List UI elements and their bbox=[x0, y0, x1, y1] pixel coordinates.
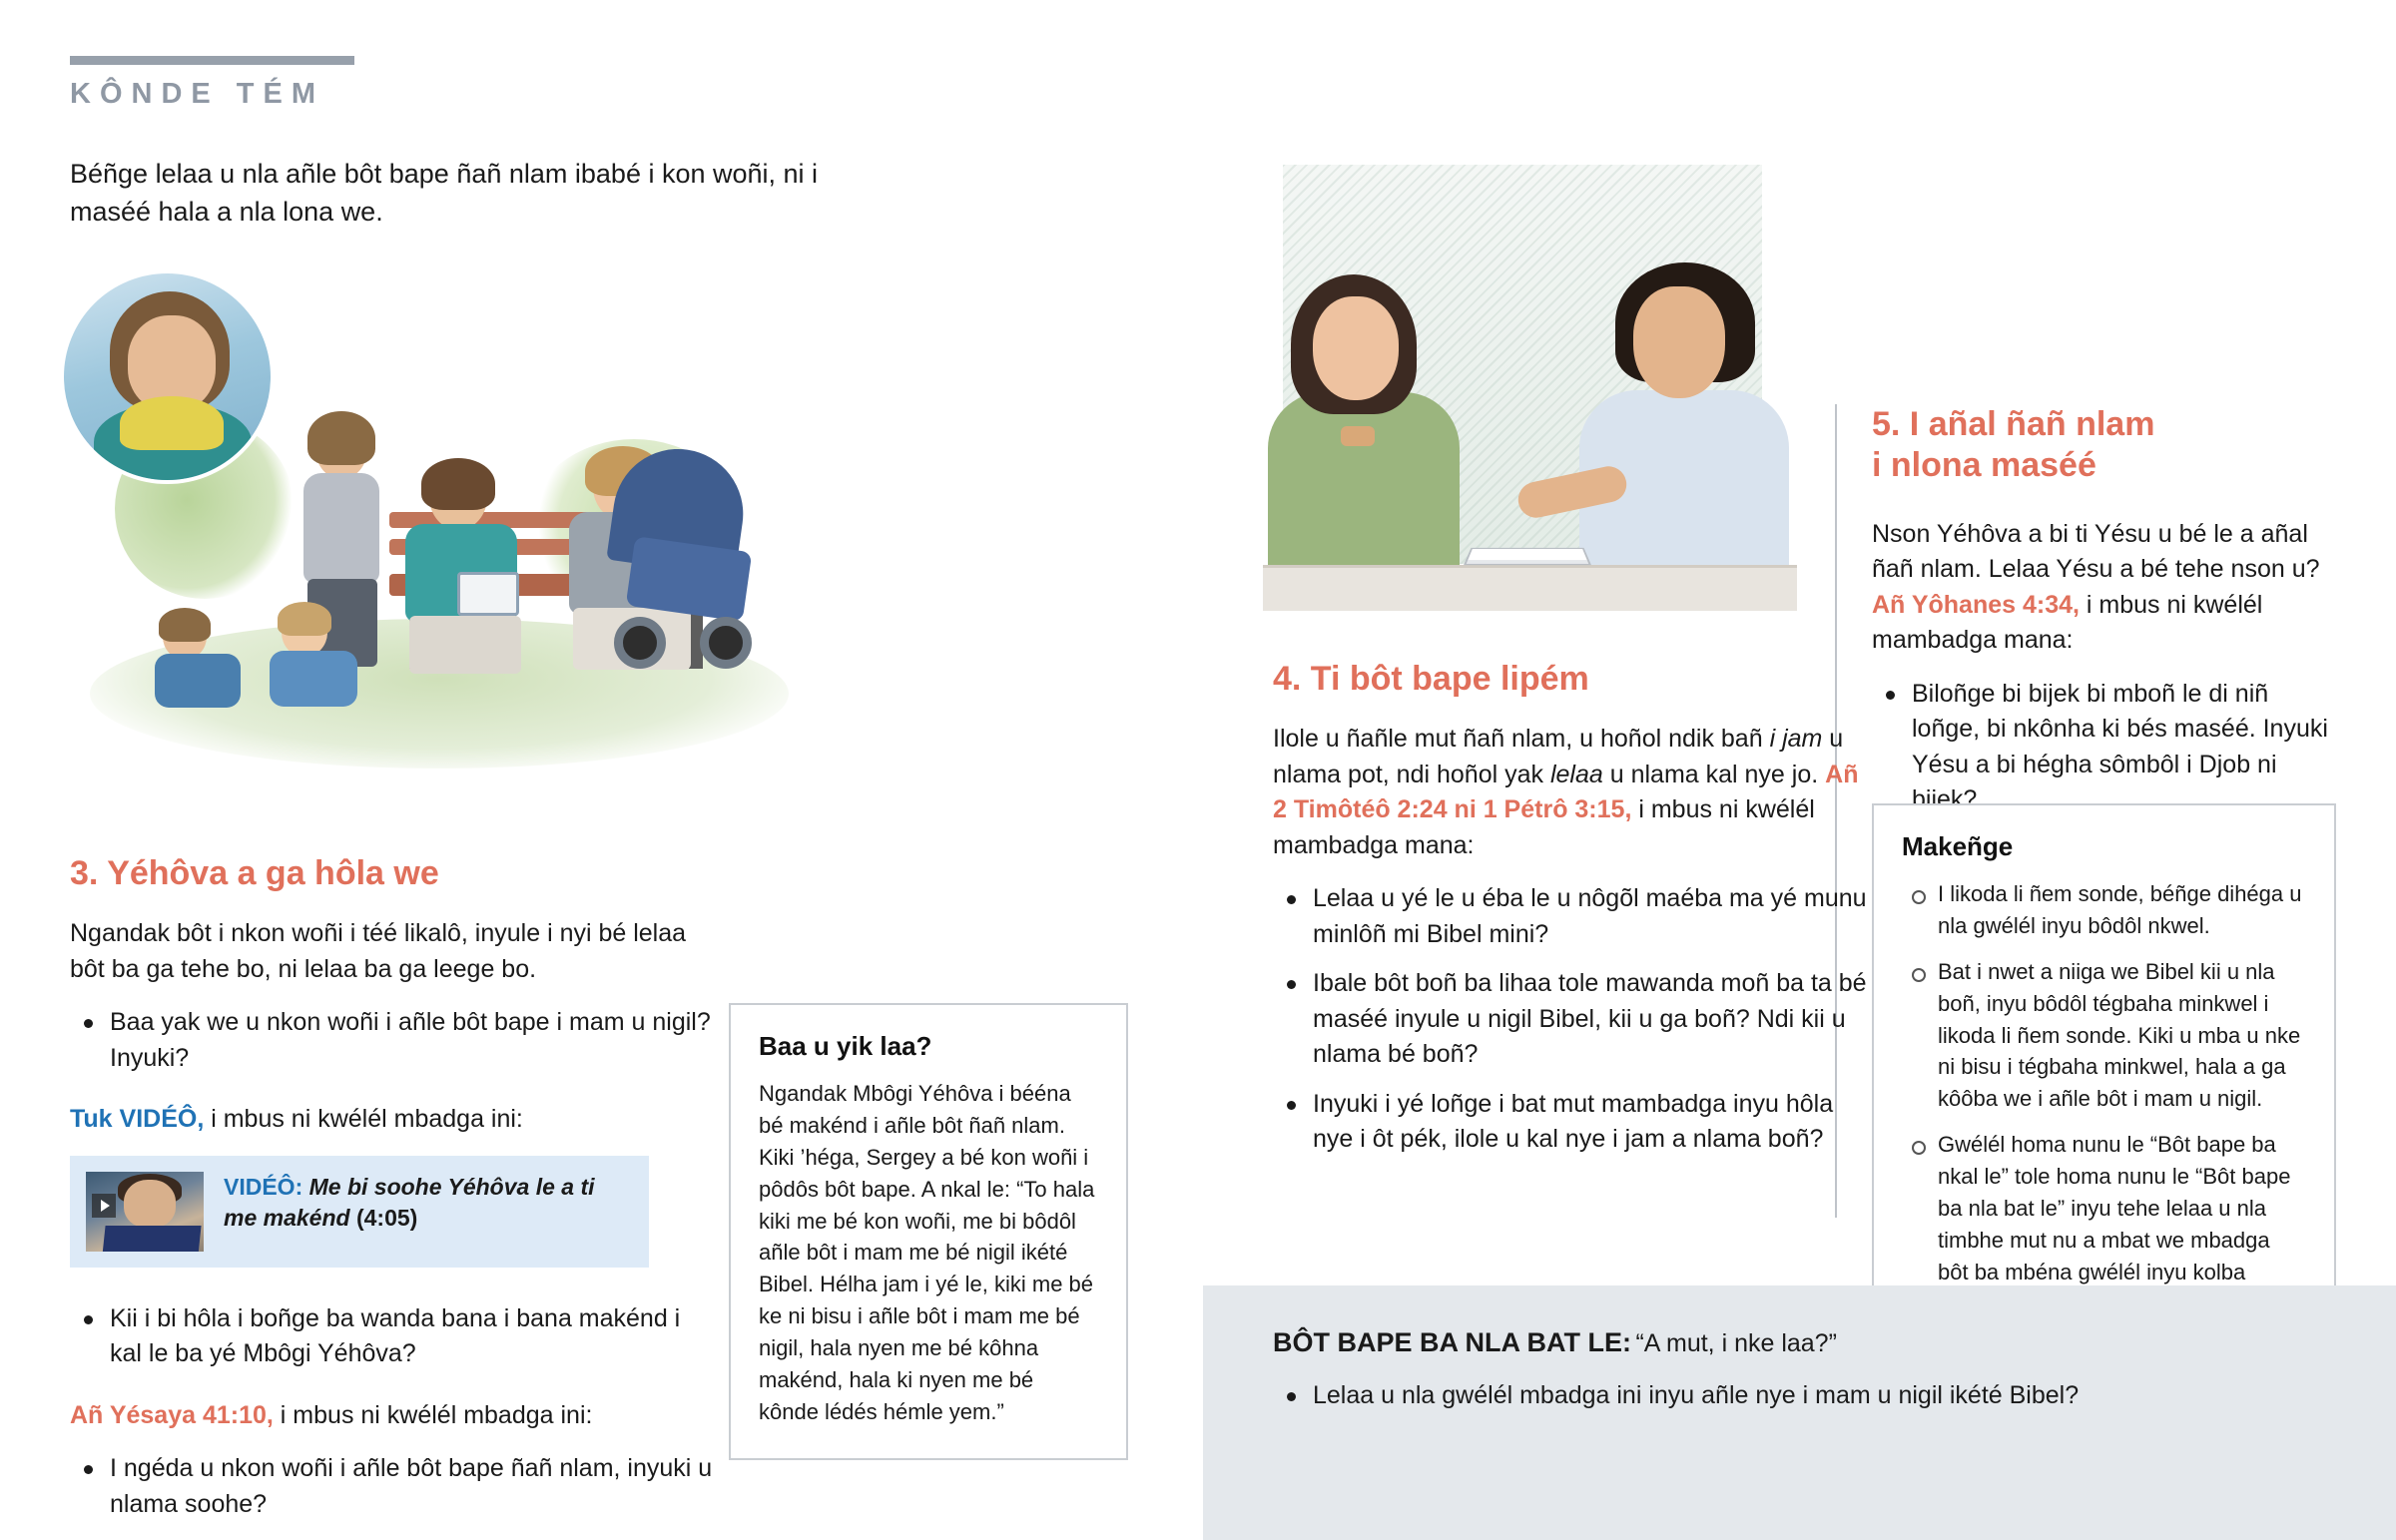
list-item: I likoda li ñem sonde, béñge dihéga u nl… bbox=[1902, 878, 2306, 942]
section-3: 3. Yéhôva a ga hôla we Ngandak bôt i nko… bbox=[70, 853, 719, 1540]
play-icon[interactable] bbox=[92, 1194, 116, 1218]
stroller-wheel-front bbox=[614, 617, 666, 669]
section-5-heading-line2: i nlona maséé bbox=[1872, 446, 2096, 484]
section-4-bullets: Lelaa u yé le u éba le u nôgõl maéba ma … bbox=[1273, 881, 1872, 1158]
video-label: VIDÉÔ: bbox=[224, 1174, 302, 1200]
inset-portrait-circle bbox=[60, 269, 275, 484]
tips-box: Makeñge I likoda li ñem sonde, béñge dih… bbox=[1872, 803, 2336, 1366]
list-item: Biloñge bi bijek bi mboñ le di niñ loñge… bbox=[1872, 677, 2336, 818]
section-4-body: Ilole u ñañle mut ñañ nlam, u hoñol ndik… bbox=[1273, 722, 1872, 863]
woman-face bbox=[1313, 296, 1399, 400]
figure-torso bbox=[303, 473, 379, 583]
scripture-cue-strong[interactable]: Añ Yésaya 41:10, bbox=[70, 1401, 274, 1429]
intro-paragraph: Béñge lelaa u nla añle bôt bape ñañ nlam… bbox=[70, 155, 869, 232]
did-you-know-body: Ngandak Mbôgi Yéhôva i bééna bé makénd i… bbox=[759, 1078, 1098, 1428]
section-4-body-part1: Ilole u ñañle mut ñañ nlam, u hoñol ndik… bbox=[1273, 725, 1770, 753]
figure-child-right bbox=[260, 609, 379, 719]
video-duration: (4:05) bbox=[356, 1205, 417, 1231]
did-you-know-heading: Baa u yik laa? bbox=[759, 1031, 1098, 1062]
section-5-cue-strong[interactable]: Añ Yôhanes 4:34, bbox=[1872, 591, 2080, 619]
page-kicker: KÔNDE TÉM bbox=[70, 78, 324, 111]
video-cue-rest: i mbus ni kwélél mbadga ini: bbox=[204, 1105, 523, 1133]
stroller bbox=[604, 449, 774, 669]
illustration-park-scene bbox=[60, 269, 799, 828]
list-item: Lelaa u yé le u éba le u nôgõl maéba ma … bbox=[1273, 881, 1872, 952]
bottom-banner: BÔT BAPE BA NLA BAT LE: “A mut, i nke la… bbox=[1203, 1285, 2396, 1540]
video-cue-line: Tuk VIDÉÔ, i mbus ni kwélél mbadga ini: bbox=[70, 1102, 719, 1138]
section-5-body-part1: Nson Yéhôva a bi ti Yésu u bé le a añal … bbox=[1872, 520, 2320, 584]
figure-child-left bbox=[155, 614, 265, 719]
list-item: Kii i bi hôla i boñge ba wanda bana i ba… bbox=[70, 1301, 719, 1372]
banner-title: BÔT BAPE BA NLA BAT LE: bbox=[1273, 1327, 1631, 1357]
table-surface bbox=[1263, 565, 1797, 611]
section-3-body: Ngandak bôt i nkon woñi i téé likalô, in… bbox=[70, 916, 719, 987]
list-item: Lelaa u nla gwélél mbadga ini inyu añle … bbox=[1273, 1378, 2346, 1413]
list-item: Ibale bôt boñ ba lihaa tole mawanda moñ … bbox=[1273, 966, 1872, 1073]
section-3-bullets-after-video: Kii i bi hôla i boñge ba wanda bana i ba… bbox=[70, 1301, 719, 1372]
video-caption: VIDÉÔ: Me bi soohe Yéhôva le a ti me mak… bbox=[224, 1172, 629, 1234]
figure-hair bbox=[278, 602, 331, 636]
banner-quote: “A mut, i nke laa?” bbox=[1635, 1329, 1836, 1357]
figure-hair bbox=[421, 458, 495, 510]
tips-box-list: I likoda li ñem sonde, béñge dihéga u nl… bbox=[1902, 878, 2306, 1320]
video-thumbnail[interactable] bbox=[86, 1172, 204, 1252]
banner-headline: BÔT BAPE BA NLA BAT LE: “A mut, i nke la… bbox=[1273, 1327, 2346, 1358]
open-bible bbox=[1464, 548, 1591, 565]
figure-hair bbox=[159, 608, 211, 642]
scripture-cue-rest: i mbus ni kwélél mbadga ini: bbox=[274, 1401, 593, 1429]
publication-page: KÔNDE TÉM Béñge lelaa u nla añle bôt bap… bbox=[0, 0, 2396, 1540]
section-5-body: Nson Yéhôva a bi ti Yésu u bé le a añal … bbox=[1872, 517, 2336, 659]
thumbnail-face bbox=[124, 1180, 176, 1228]
woman-neck bbox=[1341, 426, 1375, 446]
section-5-heading: 5. I añal ñañ nlam i nlona maséé bbox=[1872, 404, 2336, 487]
list-item: Inyuki i yé loñge i bat mut mambadga iny… bbox=[1273, 1087, 1872, 1158]
section-5-heading-line1: 5. I añal ñañ nlam bbox=[1872, 405, 2154, 443]
tips-box-heading: Makeñge bbox=[1902, 831, 2306, 862]
header-rule bbox=[70, 56, 354, 65]
woman-body bbox=[1268, 392, 1460, 582]
list-item: Bat i nwet a niiga we Bibel kii u nla bo… bbox=[1902, 956, 2306, 1115]
video-cue-strong[interactable]: Tuk VIDÉÔ, bbox=[70, 1105, 204, 1133]
scripture-cue-line: Añ Yésaya 41:10, i mbus ni kwélél mbadga… bbox=[70, 1398, 719, 1434]
section-4: 4. Ti bôt bape lipém Ilole u ñañle mut ñ… bbox=[1273, 659, 1872, 1184]
did-you-know-box: Baa u yik laa? Ngandak Mbôgi Yéhôva i bé… bbox=[729, 1003, 1128, 1460]
section-3-bullets-after-scripture: I ngéda u nkon woñi i añle bôt bape ñañ … bbox=[70, 1451, 719, 1522]
figure-seated-publisher bbox=[399, 464, 529, 674]
section-3-bullets: Baa yak we u nkon woñi i añle bôt bape i… bbox=[70, 1005, 719, 1076]
stroller-wheel-rear bbox=[700, 617, 752, 669]
inset-scarf bbox=[120, 396, 224, 450]
thumbnail-book bbox=[102, 1226, 201, 1252]
banner-bullets: Lelaa u nla gwélél mbadga ini inyu añle … bbox=[1273, 1378, 2346, 1413]
tablet-device bbox=[457, 572, 519, 616]
illustration-bible-study-couple bbox=[1263, 165, 1797, 629]
figure-torso bbox=[270, 651, 357, 707]
section-4-emphasis-1: i jam bbox=[1770, 725, 1823, 753]
list-item: Baa yak we u nkon woñi i añle bôt bape i… bbox=[70, 1005, 719, 1076]
section-3-heading: 3. Yéhôva a ga hôla we bbox=[70, 853, 719, 894]
list-item: I ngéda u nkon woñi i añle bôt bape ñañ … bbox=[70, 1451, 719, 1522]
video-callout[interactable]: VIDÉÔ: Me bi soohe Yéhôva le a ti me mak… bbox=[70, 1156, 649, 1268]
section-4-heading: 4. Ti bôt bape lipém bbox=[1273, 659, 1872, 700]
stroller-seat bbox=[626, 536, 753, 622]
figure-hair bbox=[307, 411, 375, 465]
figure-torso bbox=[155, 654, 241, 708]
man-face bbox=[1633, 286, 1725, 398]
section-4-emphasis-2: lelaa bbox=[1550, 761, 1603, 788]
figure-legs bbox=[409, 616, 521, 674]
section-4-body-part3: u nlama kal nye jo. bbox=[1603, 761, 1825, 788]
